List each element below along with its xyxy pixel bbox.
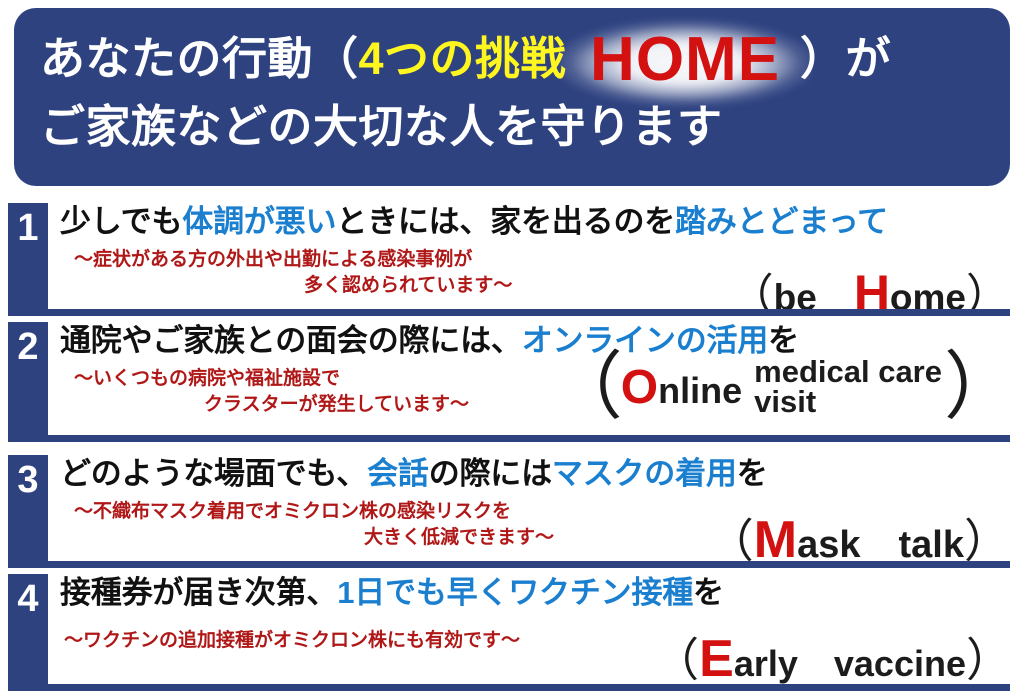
english-tail-4: vaccine [798,643,966,684]
english-open-paren-2: （ [549,354,623,421]
header-banner: あなたの行動（4つの挑戦HOME）が ご家族などの大切な人を守ります [14,8,1010,186]
action-row-1: 1少しでも体調が悪いときには、家を出るのを踏みとどまって～症状がある方の外出や出… [0,203,1024,316]
row-number-badge-1: 1 [8,203,48,309]
headline-segment-1-1: 少しでも [60,204,182,239]
headline-segment-3-1: どのような場面でも、 [60,456,367,491]
headline-segment-3-4: マスクの着用 [552,456,737,491]
english-online-group-2: Online [621,360,742,415]
english-open-paren-3: （ [708,515,754,567]
english-close-paren-4: ） [966,634,1012,686]
row-number-badge-4: 4 [8,574,48,684]
headline-segment-1-4: 踏みとどまって [675,204,888,239]
row-headline-3: どのような場面でも、会話の際にはマスクの着用を [60,455,1022,493]
header-title-line-1: あなたの行動（4つの挑戦HOME）が [40,24,984,96]
action-row-4: 4接種券が届き次第、1日でも早くワクチン接種を～ワクチンの追加接種がオミクロン株… [0,574,1024,691]
header-text-suffix: ）が [800,33,891,84]
english-inline-wrap-2: （Onlinemedical carevisit） [549,354,1018,421]
action-row-3: 3どのような場面でも、会話の際にはマスクの着用を～不織布マスク着用でオミクロン株… [0,455,1024,568]
headline-segment-3-3: の際には [429,456,552,491]
headline-segment-2-1: 通院やご家族との面会の際には、 [60,323,522,358]
home-acronym: HOME [576,25,794,94]
headline-segment-1-2: 体調が悪い [182,204,336,239]
row-divider-1 [8,309,1010,316]
english-rest-2: nline [658,370,742,411]
action-row-2: 2通院やご家族との面会の際には、オンラインの活用を～いくつもの病院や福祉施設でク… [0,322,1024,442]
english-close-paren-3: ） [964,515,1010,567]
english-capital-4: E [699,630,734,688]
headline-segment-3-5: を [737,456,768,491]
english-rest-4: arly [734,643,798,684]
english-stack-top-2: medical care [754,357,942,387]
home-acronym-wrap: HOME [576,25,794,100]
headline-segment-2-3: を [768,323,799,358]
header-text-challenge: 4つの挑戦 [359,33,567,84]
headline-segment-4-1: 接種券が届き次第、 [60,575,337,610]
header-text-prefix: あなたの行動（ [40,33,359,84]
english-rest-3: ask [797,524,860,566]
english-close-paren-2: ） [944,354,1018,421]
headline-segment-4-3: を [693,575,724,610]
row-number-badge-2: 2 [8,322,48,435]
english-open-paren-4: （ [653,634,699,686]
row-headline-1: 少しでも体調が悪いときには、家を出るのを踏みとどまって [60,203,1022,241]
row-divider-4 [8,684,1010,691]
english-capital-2: O [621,361,658,414]
row-english-phrase-4: （Early vaccine） [653,624,1012,690]
row-headline-4: 接種券が届き次第、1日でも早くワクチン接種を [60,574,1022,612]
row-english-phrase-2: （Onlinemedical carevisit） [549,354,1018,421]
headline-segment-1-3: ときには、家を出るのを [336,204,675,239]
english-tail-3: talk [861,524,964,566]
english-stack-2: medical carevisit [754,357,942,417]
row-divider-2 [8,435,1010,442]
header-title-line-2: ご家族などの大切な人を守ります [40,96,984,158]
english-stack-bottom-2: visit [754,387,942,417]
headline-segment-3-2: 会話 [367,456,429,491]
headline-segment-4-2: 1日でも早くワクチン接種 [337,575,693,610]
row-number-badge-3: 3 [8,455,48,561]
row-divider-3 [8,561,1010,568]
